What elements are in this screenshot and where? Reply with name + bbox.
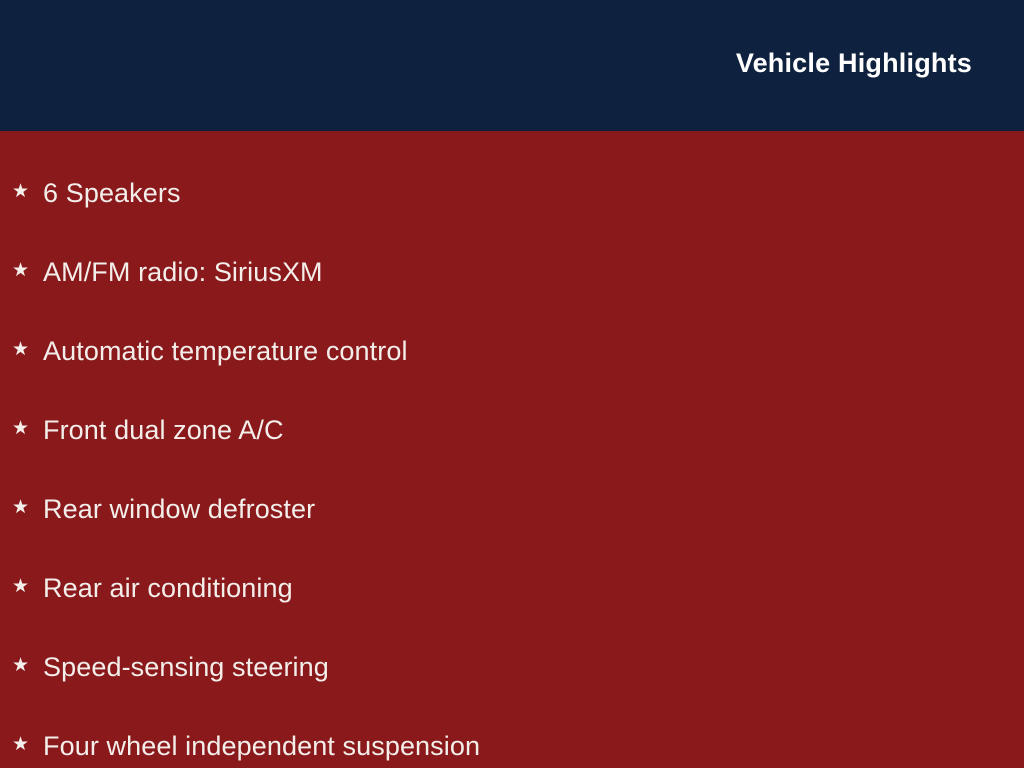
star-icon: ★ xyxy=(12,340,34,359)
feature-label: AM/FM radio: SiriusXM xyxy=(43,256,323,288)
list-item: ★ Front dual zone A/C xyxy=(0,390,1024,469)
feature-label: Rear air conditioning xyxy=(43,572,293,604)
page-title: Vehicle Highlights xyxy=(736,47,972,80)
list-item: ★ AM/FM radio: SiriusXM xyxy=(0,232,1024,311)
list-item: ★ Rear air conditioning xyxy=(0,548,1024,627)
feature-label: Rear window defroster xyxy=(43,493,315,525)
feature-label: 6 Speakers xyxy=(43,177,181,209)
list-item: ★ Rear window defroster xyxy=(0,469,1024,548)
feature-label: Automatic temperature control xyxy=(43,335,408,367)
star-icon: ★ xyxy=(12,498,34,517)
star-icon: ★ xyxy=(12,419,34,438)
vehicle-features-list: ★ 6 Speakers ★ AM/FM radio: SiriusXM ★ A… xyxy=(0,153,1024,768)
slide-body: ★ 6 Speakers ★ AM/FM radio: SiriusXM ★ A… xyxy=(0,131,1024,768)
star-icon: ★ xyxy=(12,182,34,201)
list-item: ★ 6 Speakers xyxy=(0,153,1024,232)
slide-header: Vehicle Highlights xyxy=(0,0,1024,131)
feature-label: Four wheel independent suspension xyxy=(43,730,480,762)
star-icon: ★ xyxy=(12,577,34,596)
list-item: ★ Speed-sensing steering xyxy=(0,627,1024,706)
star-icon: ★ xyxy=(12,656,34,675)
list-item: ★ Four wheel independent suspension xyxy=(0,706,1024,768)
feature-label: Speed-sensing steering xyxy=(43,651,329,683)
star-icon: ★ xyxy=(12,735,34,754)
feature-label: Front dual zone A/C xyxy=(43,414,284,446)
star-icon: ★ xyxy=(12,261,34,280)
list-item: ★ Automatic temperature control xyxy=(0,311,1024,390)
vehicle-highlights-slide: Vehicle Highlights ★ 6 Speakers ★ AM/FM … xyxy=(0,0,1024,768)
